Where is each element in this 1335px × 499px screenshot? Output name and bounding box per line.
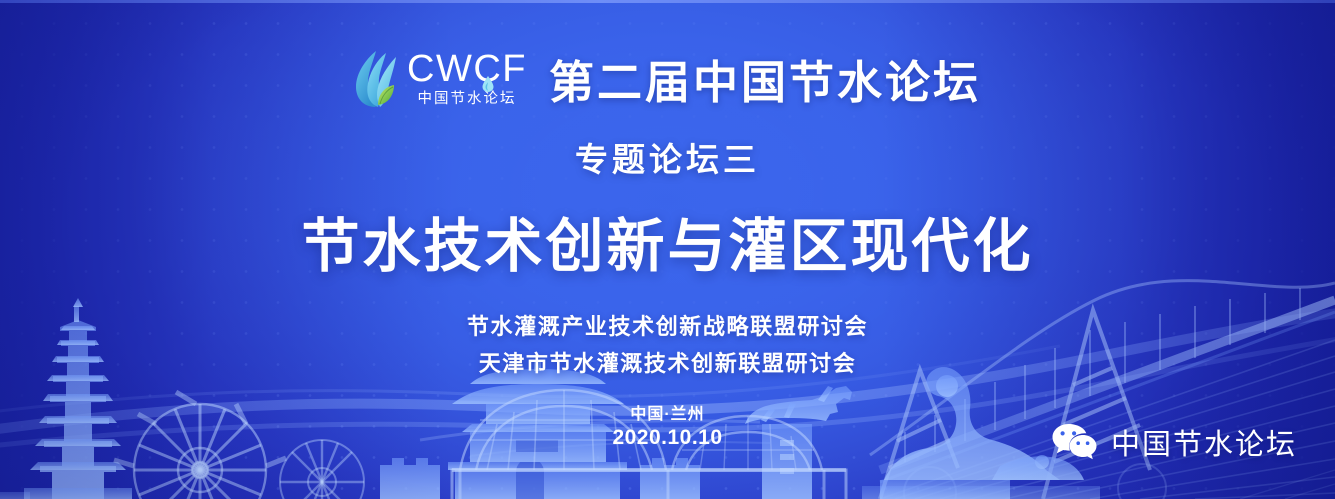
subtitle-group: 节水灌溉产业技术创新战略联盟研讨会 天津市节水灌溉技术创新联盟研讨会 <box>467 309 868 378</box>
wechat-account-badge: 中国节水论坛 <box>1051 421 1297 463</box>
cwcf-acronym: CWCF <box>407 50 527 88</box>
cwcf-logo: CWCF 中国节水论坛 <box>354 49 527 109</box>
event-location: 中国·兰州 <box>630 400 704 424</box>
water-drop-leaf-icon <box>354 49 398 109</box>
forum-banner: CWCF 中国节水论坛 第二届中国节水论坛 专题论坛三 节水技术创新与灌区现代化… <box>0 0 1335 499</box>
event-meta: 中国·兰州 2020.10.10 <box>612 400 722 450</box>
subtitle-line-2: 天津市节水灌溉技术创新联盟研讨会 <box>479 346 857 378</box>
logo-and-brand-row: CWCF 中国节水论坛 第二届中国节水论坛 <box>354 46 981 111</box>
cwcf-chinese-name: 中国节水论坛 <box>417 92 516 107</box>
cwcf-letters: CWCF <box>407 50 527 88</box>
wechat-account-name: 中国节水论坛 <box>1111 421 1297 463</box>
brand-title: 第二届中国节水论坛 <box>549 46 981 111</box>
wechat-icon <box>1051 422 1098 462</box>
water-drop-icon <box>481 62 494 79</box>
event-date: 2020.10.10 <box>612 426 722 450</box>
cwcf-wordmark: CWCF 中国节水论坛 <box>407 50 527 107</box>
subtitle-line-1: 节水灌溉产业技术创新战略联盟研讨会 <box>467 309 868 341</box>
forum-number: 专题论坛三 <box>575 133 760 181</box>
main-title: 节水技术创新与灌区现代化 <box>301 199 1033 283</box>
